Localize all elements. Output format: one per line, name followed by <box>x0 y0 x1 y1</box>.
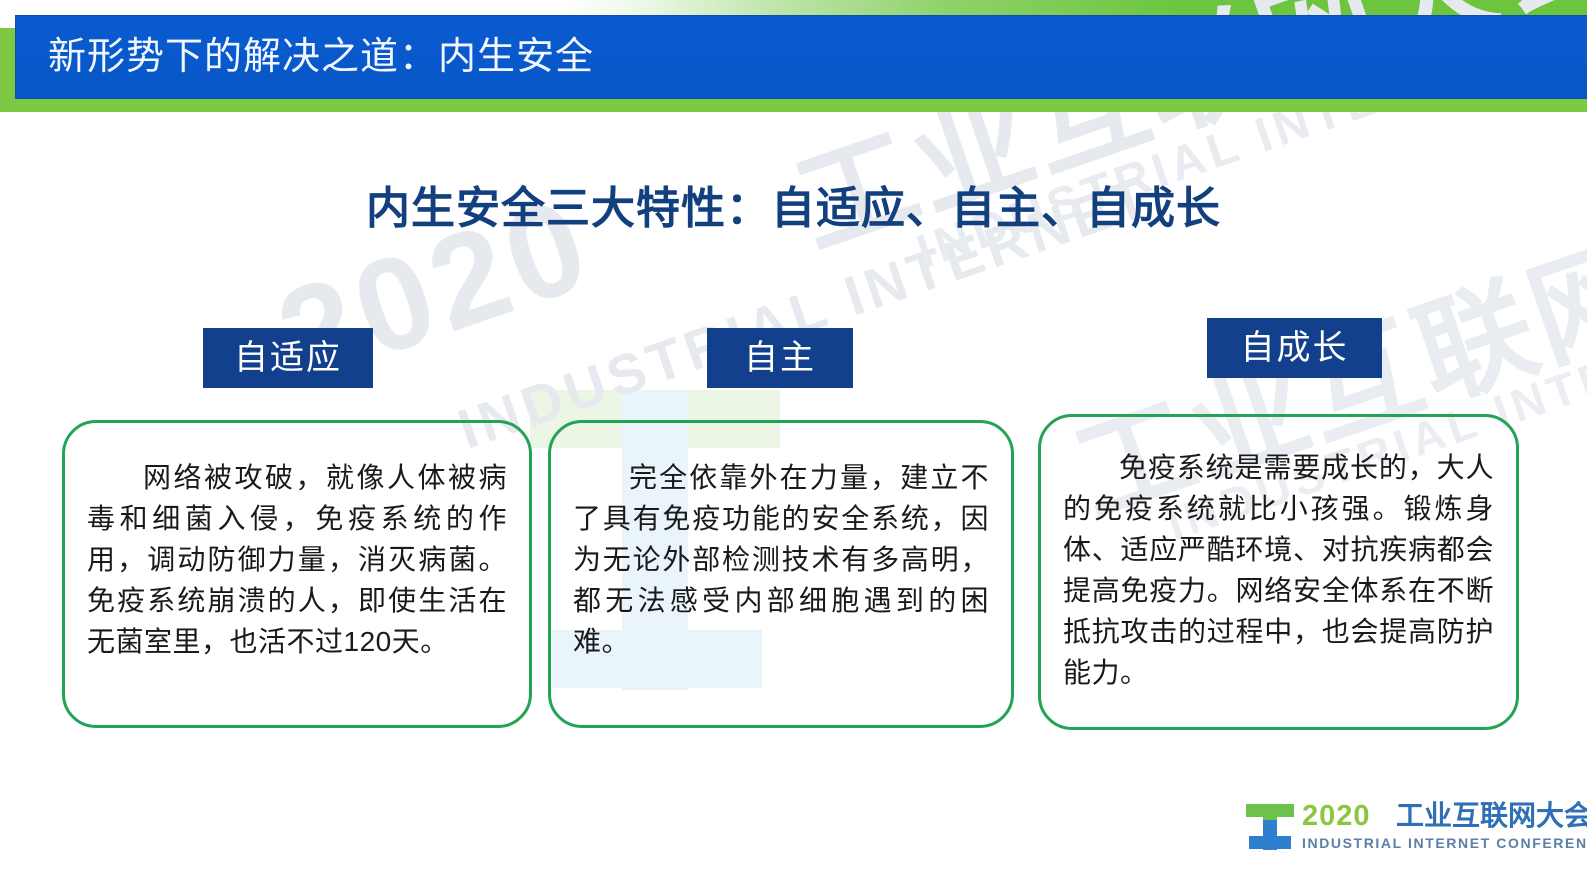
conference-logo: 2020 工业互联网大会 INDUSTRIAL INTERNET CONFERE… <box>1244 798 1554 854</box>
feature-badge-adaptive: 自适应 <box>203 328 373 388</box>
feature-card-adaptive-text: 网络被攻破，就像人体被病毒和细菌入侵，免疫系统的作用，调动防御力量，消灭病菌。免… <box>87 457 507 662</box>
feature-card-self-growth-text: 免疫系统是需要成长的，大人的免疫系统就比小孩强。锻炼身体、适应严酷环境、对抗疾病… <box>1063 447 1494 693</box>
conference-logo-cn: 工业互联网大会 <box>1396 799 1587 833</box>
feature-badge-autonomous: 自主 <box>707 328 853 388</box>
feature-card-adaptive: 网络被攻破，就像人体被病毒和细菌入侵，免疫系统的作用，调动防御力量，消灭病菌。免… <box>62 420 532 728</box>
feature-badge-self-growth: 自成长 <box>1207 318 1382 378</box>
feature-card-self-growth: 免疫系统是需要成长的，大人的免疫系统就比小孩强。锻炼身体、适应严酷环境、对抗疾病… <box>1038 414 1519 730</box>
conference-logo-mark-icon <box>1244 800 1296 850</box>
conference-logo-en: INDUSTRIAL INTERNET CONFERENCE <box>1302 834 1587 852</box>
feature-card-autonomous: 完全依靠外在力量，建立不了具有免疫功能的安全系统，因为无论外部检测技术有多高明，… <box>548 420 1014 728</box>
page-title: 新形势下的解决之道：内生安全 <box>48 30 594 84</box>
conference-logo-year: 2020 <box>1302 799 1371 833</box>
main-heading: 内生安全三大特性：自适应、自主、自成长 <box>0 178 1587 240</box>
slide-canvas: 2020 INDUSTRIAL INTERNET 工业互联网大会 INDUSTR… <box>0 0 1587 892</box>
feature-card-autonomous-text: 完全依靠外在力量，建立不了具有免疫功能的安全系统，因为无论外部检测技术有多高明，… <box>573 457 989 662</box>
top-accent-strip <box>0 0 1587 16</box>
